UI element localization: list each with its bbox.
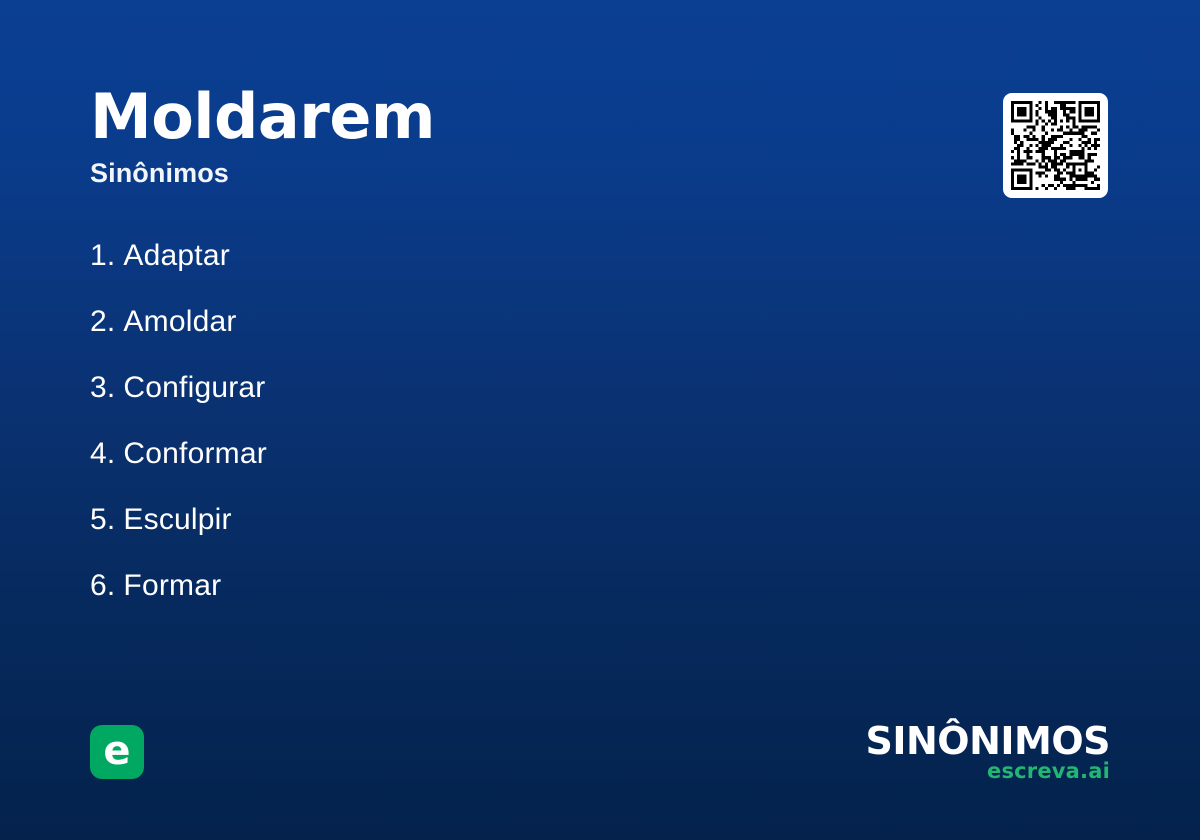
synonym-list-item: 6.Formar xyxy=(90,566,890,632)
synonym-list-item: 3.Configurar xyxy=(90,368,890,434)
escreva-badge-icon[interactable]: e xyxy=(90,725,144,779)
footer-logo-subtitle: escreva.ai xyxy=(865,761,1110,782)
qr-code-icon xyxy=(1011,101,1100,190)
synonym-list-item: 5.Esculpir xyxy=(90,500,890,566)
page-subtitle: Sinônimos xyxy=(90,160,850,187)
page-title: Moldarem xyxy=(90,86,850,148)
synonym-index: 5. xyxy=(90,500,115,540)
synonym-list-item: 4.Conformar xyxy=(90,434,890,500)
synonym-card: Moldarem Sinônimos 1.Adaptar2.Amoldar3.C… xyxy=(0,0,1200,840)
synonym-word: Formar xyxy=(123,569,221,602)
synonym-word: Configurar xyxy=(123,371,265,404)
synonym-list-item: 1.Adaptar xyxy=(90,236,890,302)
synonym-word: Conformar xyxy=(123,437,267,470)
footer-logo-title: SINÔNIMOS xyxy=(865,722,1110,760)
qr-code-card[interactable] xyxy=(1003,93,1108,198)
synonym-word: Adaptar xyxy=(123,239,229,272)
synonym-index: 2. xyxy=(90,302,115,342)
synonym-index: 4. xyxy=(90,434,115,474)
synonym-index: 3. xyxy=(90,368,115,408)
synonym-word: Amoldar xyxy=(123,305,236,338)
headline-block: Moldarem Sinônimos xyxy=(90,86,850,187)
synonym-word: Esculpir xyxy=(123,503,231,536)
synonym-index: 1. xyxy=(90,236,115,276)
synonym-list: 1.Adaptar2.Amoldar3.Configurar4.Conforma… xyxy=(90,236,890,632)
synonym-list-item: 2.Amoldar xyxy=(90,302,890,368)
escreva-badge-letter: e xyxy=(90,725,144,779)
synonym-index: 6. xyxy=(90,566,115,606)
footer-logo: SINÔNIMOS escreva.ai xyxy=(865,722,1110,782)
